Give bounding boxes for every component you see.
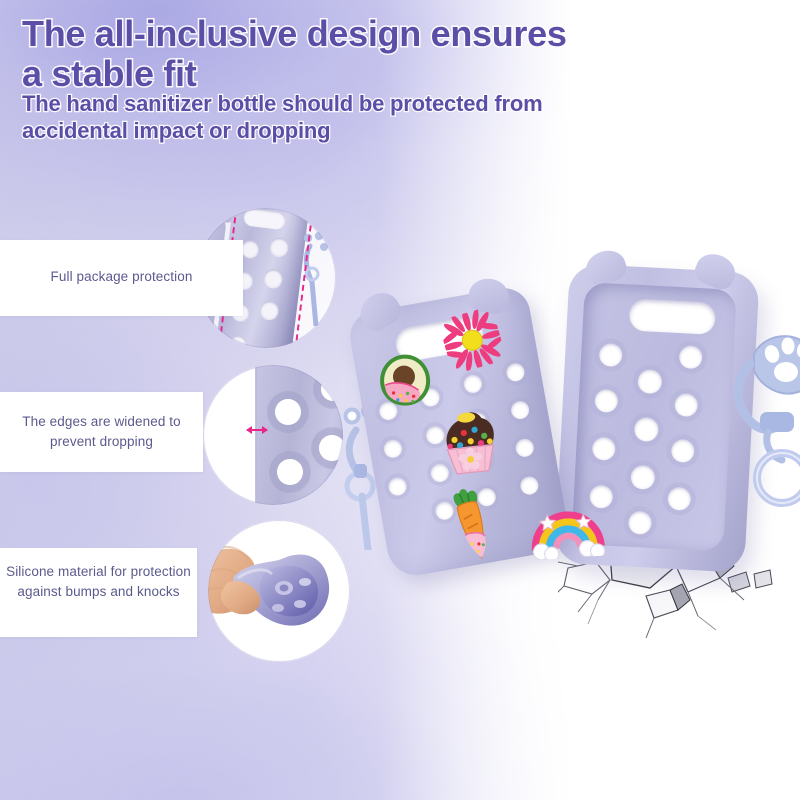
front-case-ear-left xyxy=(354,286,406,336)
back-case-hole xyxy=(634,417,659,442)
back-case-hole xyxy=(592,437,616,461)
infographic-canvas: The all-inclusive design ensures a stabl… xyxy=(0,0,800,800)
back-case-hole xyxy=(628,511,652,535)
back-case-ear-right xyxy=(691,248,740,293)
callout-2-ring xyxy=(203,365,343,505)
rainbow-charm xyxy=(526,497,608,560)
callout-3-ring xyxy=(208,520,350,662)
front-case-hole xyxy=(514,437,535,458)
page-title: The all-inclusive design ensures a stabl… xyxy=(22,14,582,94)
feature-label-1: Full package protection xyxy=(0,267,243,287)
back-case-top-slot xyxy=(629,298,717,334)
back-case-hole xyxy=(599,343,623,367)
back-case-hole xyxy=(667,487,691,511)
front-case-hole xyxy=(505,362,526,383)
back-case-hole xyxy=(671,439,695,463)
header: The all-inclusive design ensures a stabl… xyxy=(0,0,800,165)
back-case-hole xyxy=(594,389,618,413)
avocado-charm xyxy=(375,350,435,410)
callout-widened-edges xyxy=(203,365,343,505)
feature-band-full-package-protection: Full package protection xyxy=(0,240,243,316)
feature-label-2: The edges are widened to prevent droppin… xyxy=(0,412,203,452)
daisy-flower-charm xyxy=(438,306,507,375)
back-case-hole xyxy=(679,345,703,369)
feature-band-widened-edges: The edges are widened to prevent droppin… xyxy=(0,392,203,472)
feature-label-3: Silicone material for protection against… xyxy=(0,562,197,602)
back-case-hole xyxy=(674,393,698,417)
cupcake-charm xyxy=(434,403,503,477)
front-case-hole xyxy=(462,373,483,394)
product-photo-group xyxy=(330,250,800,670)
back-case-ear-left xyxy=(582,246,630,288)
back-case-hole xyxy=(630,465,655,490)
back-case-hole xyxy=(637,369,662,394)
front-case-hole xyxy=(387,476,408,497)
feature-band-silicone-material: Silicone material for protection against… xyxy=(0,548,197,637)
front-case-hole xyxy=(519,475,540,496)
paw-carabiner-keychain xyxy=(720,320,800,510)
page-subtitle: The hand sanitizer bottle should be prot… xyxy=(22,90,602,144)
front-case-hole xyxy=(382,438,403,459)
front-case-hole xyxy=(510,400,531,421)
callout-silicone-material xyxy=(208,520,350,662)
